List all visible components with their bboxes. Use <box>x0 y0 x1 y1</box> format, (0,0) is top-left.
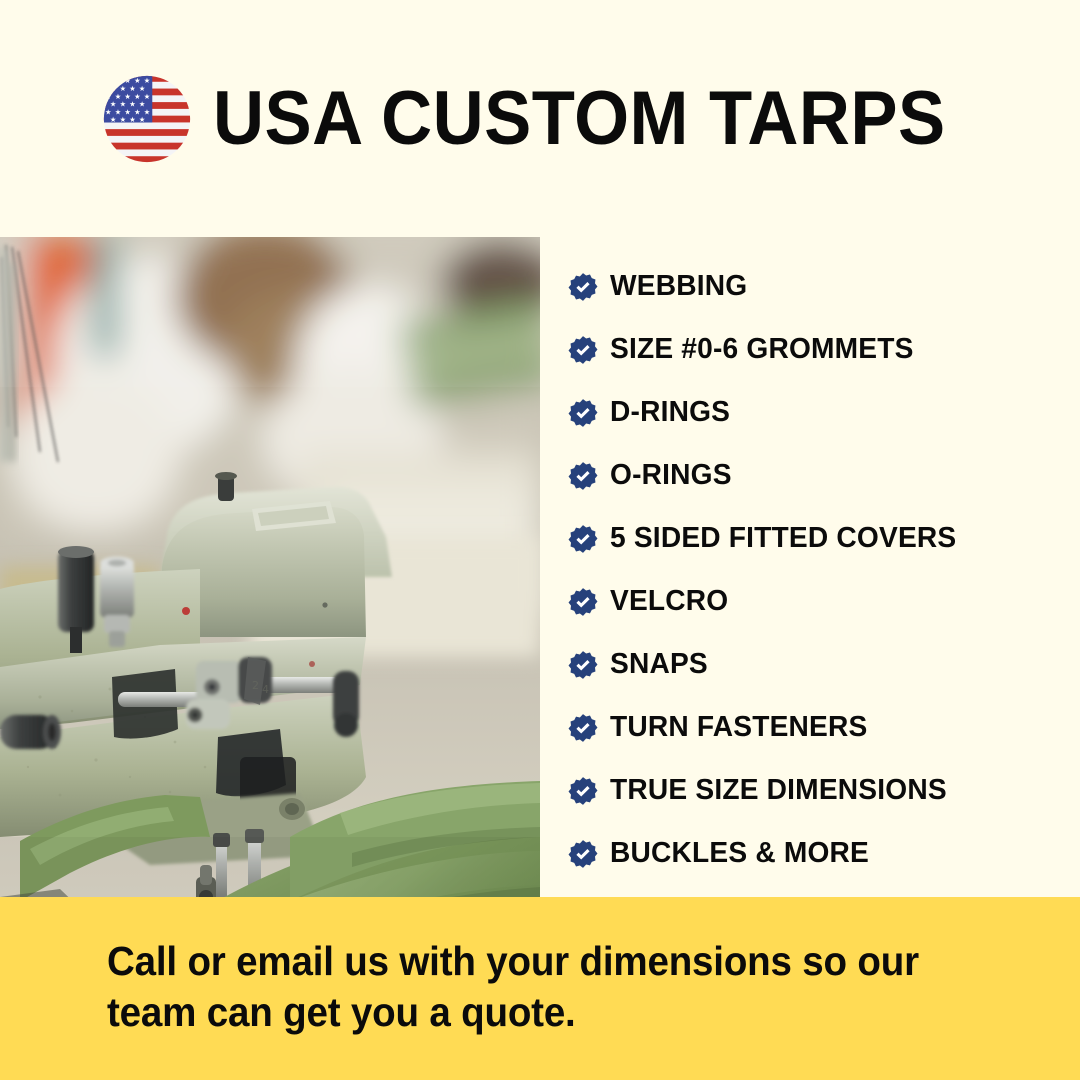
check-badge-icon <box>568 335 598 365</box>
list-item: WEBBING <box>540 255 1080 318</box>
feature-label: WEBBING <box>610 270 747 303</box>
check-badge-icon <box>568 461 598 491</box>
list-item: VELCRO <box>540 570 1080 633</box>
feature-label: SIZE #0-6 GROMMETS <box>610 333 914 366</box>
svg-text:★: ★ <box>105 75 111 84</box>
check-badge-icon <box>568 776 598 806</box>
list-item: D-RINGS <box>540 381 1080 444</box>
check-badge-icon <box>568 524 598 554</box>
list-item: O-RINGS <box>540 444 1080 507</box>
header: ★★★ ★★ ★★★ ★ ★★★ ★★ ★★★ ★ ★★★ ★★ ★★★ ★ U… <box>0 0 1080 237</box>
call-to-action-text: Call or email us with your dimensions so… <box>107 936 919 1036</box>
svg-text:2: 2 <box>252 679 259 692</box>
check-badge-icon <box>568 650 598 680</box>
list-item: SIZE #0-6 GROMMETS <box>540 318 1080 381</box>
check-badge-icon <box>568 272 598 302</box>
feature-label: TURN FASTENERS <box>610 711 867 744</box>
page-title: USA CUSTOM TARPS <box>213 81 946 157</box>
usa-flag-circle-icon: ★★★ ★★ ★★★ ★ ★★★ ★★ ★★★ ★ ★★★ ★★ ★★★ ★ <box>103 75 191 163</box>
list-item: TURN FASTENERS <box>540 696 1080 759</box>
list-item: SNAPS <box>540 633 1080 696</box>
feature-label: O-RINGS <box>610 459 732 492</box>
check-badge-icon <box>568 398 598 428</box>
promo-poster: ★★★ ★★ ★★★ ★ ★★★ ★★ ★★★ ★ ★★★ ★★ ★★★ ★ U… <box>0 0 1080 1080</box>
feature-label: D-RINGS <box>610 396 730 429</box>
list-item: 5 SIDED FITTED COVERS <box>540 507 1080 570</box>
footer-banner: Call or email us with your dimensions so… <box>0 897 1080 1080</box>
svg-text:★: ★ <box>115 75 121 84</box>
check-badge-icon <box>568 839 598 869</box>
check-badge-icon <box>568 587 598 617</box>
cta-line-1: Call or email us with your dimensions so… <box>107 936 919 986</box>
feature-label: SNAPS <box>610 648 708 681</box>
feature-label: BUCKLES & MORE <box>610 837 869 870</box>
list-item: BUCKLES & MORE <box>540 822 1080 885</box>
svg-text:★: ★ <box>139 115 145 124</box>
svg-text:★: ★ <box>120 115 126 124</box>
feature-label: VELCRO <box>610 585 728 618</box>
cta-line-2: team can get you a quote. <box>107 987 919 1037</box>
check-badge-icon <box>568 713 598 743</box>
list-item: TRUE SIZE DIMENSIONS <box>540 759 1080 822</box>
svg-text:4: 4 <box>262 683 269 696</box>
features-list: WEBBING SIZE #0-6 GROMMETS D-RINGS O-RIN… <box>540 237 1080 897</box>
svg-text:★: ★ <box>110 115 116 124</box>
sewing-machine-photo: 24 <box>0 237 540 897</box>
svg-text:★: ★ <box>129 115 135 124</box>
feature-label: TRUE SIZE DIMENSIONS <box>610 774 947 807</box>
feature-label: 5 SIDED FITTED COVERS <box>610 522 956 555</box>
